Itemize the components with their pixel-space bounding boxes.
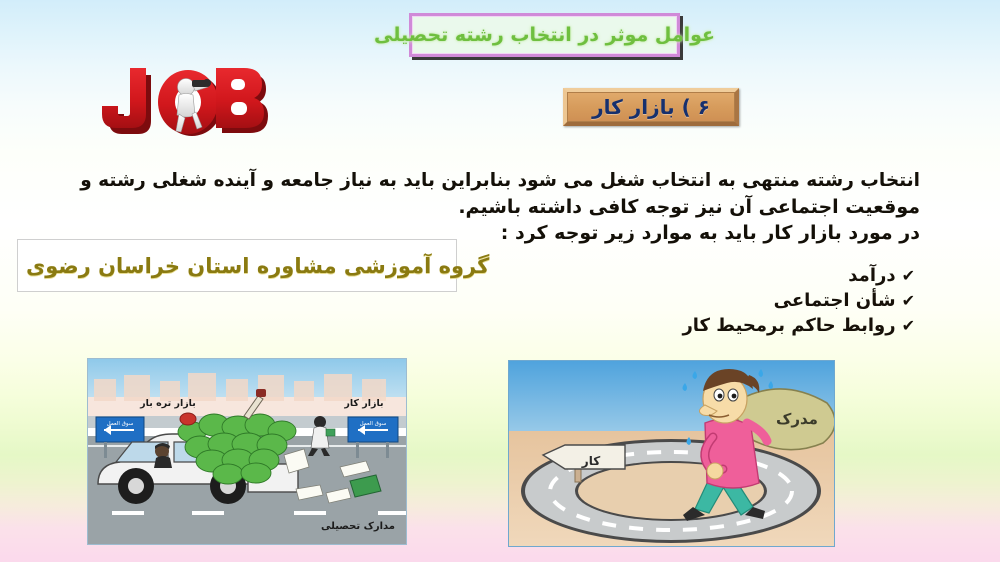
page-title: عوامل موثر در انتخاب رشته تحصیلی [374,24,715,46]
list-item-label: شأن اجتماعی [774,290,896,311]
section-heading-text: ۶ ) بازار کار [592,95,710,119]
svg-text:سوق العمل: سوق العمل [107,421,134,427]
label-vegetable-market: بازار تره بار [139,398,196,409]
job-logo-graphic [100,58,275,140]
sack-label: مدرک [776,410,818,428]
list-item: ✔روابط حاکم برمحیط کار [155,313,915,338]
body-line-1: انتخاب رشته منتهی به انتخاب شغل می شود ب… [160,168,920,194]
binoculars-icon [192,79,211,87]
cartoon-left-graphic: سوق العمل سوق العمل [88,359,406,544]
plaque-panel: ۶ ) بازار کار [567,92,735,122]
cartoon-image-left: سوق العمل سوق العمل [87,358,407,545]
check-icon: ✔ [902,313,915,338]
check-icon: ✔ [902,288,915,313]
cartoon-right-graphic: کار مدرک [509,361,834,546]
slide-title-box: عوامل موثر در انتخاب رشته تحصیلی [409,13,680,57]
section-heading-plaque: ۶ ) بازار کار [563,88,739,126]
check-icon: ✔ [902,263,915,288]
list-item-label: روابط حاکم برمحیط کار [682,315,895,336]
body-line-2: موقعیت اجتماعی آن نیز توجه کافی داشته با… [160,194,920,220]
organization-label: گروه آموزشی مشاوره استان خراسان رضوی [26,254,489,278]
cartoon-image-right: کار مدرک [508,360,835,547]
label-job-market: بازار کار [343,398,383,409]
slide-canvas: عوامل موثر در انتخاب رشته تحصیلی [0,0,1000,562]
label-academic-documents: مدارک تحصیلی [321,521,395,532]
sign-label-work: کار [581,454,600,468]
body-paragraph: انتخاب رشته منتهی به انتخاب شغل می شود ب… [160,168,920,246]
list-item-label: درآمد [848,265,895,286]
watermark [109,533,111,539]
svg-text:سوق العمل: سوق العمل [360,421,387,427]
organization-box: گروه آموزشی مشاوره استان خراسان رضوی [17,239,457,292]
slide-title-inner-frame: عوامل موثر در انتخاب رشته تحصیلی [412,16,677,54]
job-logo [100,58,275,140]
